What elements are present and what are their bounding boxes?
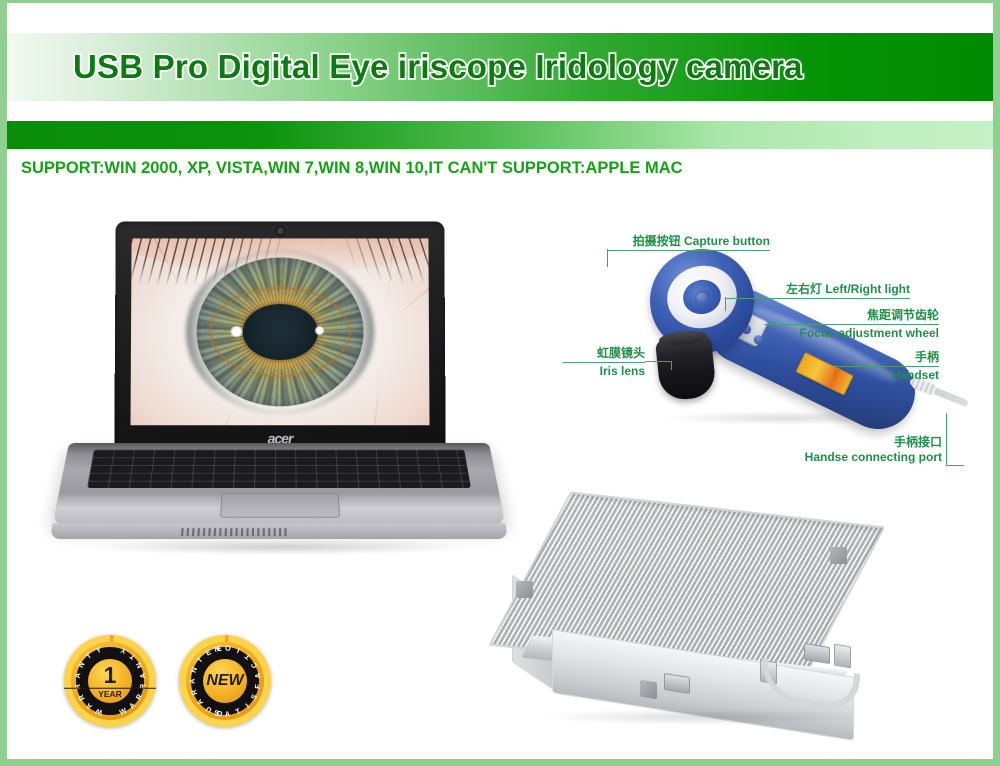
seal-center: NEW [179, 673, 271, 689]
leader-line-iris-lens-drop [671, 361, 672, 370]
product-banner: USB Pro Digital Eye iriscope Iridology c… [0, 0, 1000, 766]
callout-rule [725, 298, 910, 299]
pupil [243, 304, 318, 360]
leader-line-iris-lens [645, 361, 671, 362]
callout-connecting-port: 手柄接口 Handse connecting port [792, 435, 942, 465]
title-banner: USB Pro Digital Eye iriscope Iridology c… [7, 33, 993, 101]
seal-center-small: YEAR [64, 688, 156, 699]
aluminium-case-image [512, 503, 922, 733]
case-corner-left [516, 581, 533, 598]
leader-line-port [946, 465, 964, 466]
laptop-screen [130, 238, 429, 425]
laptop-shadow [89, 539, 469, 555]
accent-bar [7, 121, 993, 149]
callout-left-right-light: 左右灯 Left/Right light [725, 282, 910, 300]
callout-iris-lens: 虹膜镜头 Iris lens [563, 346, 645, 379]
iriscope-handset-image [622, 241, 962, 441]
callout-connecting-port-en: Handse connecting port [792, 450, 942, 465]
callout-handset-en: Handset [835, 368, 939, 383]
laptop-vent [181, 528, 290, 536]
leader-line-port-rise [946, 413, 947, 465]
seal-center-big: 1 [64, 664, 156, 687]
handset-inner-ring [679, 276, 724, 318]
callout-connecting-port-cn: 手柄接口 [792, 435, 942, 450]
capture-button [694, 289, 710, 304]
case-corner-front-left [640, 680, 657, 700]
leader-line-light [725, 297, 726, 311]
warranty-seal: WARRANTY WARRANTY 1 YEAR [64, 635, 156, 727]
guarantee-seal: GUARANTEE SATISFACTION NEW [179, 635, 271, 727]
laptop-base [52, 443, 505, 525]
leader-line-capture [607, 249, 608, 267]
callout-handset: 手柄 Handset [835, 350, 939, 383]
callout-focus-wheel-cn: 焦距调节齿轮 [764, 308, 939, 323]
callout-rule [563, 362, 645, 363]
seal-center-big: NEW [179, 673, 271, 689]
callout-iris-lens-en: Iris lens [563, 364, 645, 379]
os-support-text: SUPPORT:WIN 2000, XP, VISTA,WIN 7,WIN 8,… [21, 159, 683, 178]
laptop-image: acer [69, 221, 489, 551]
laptop-lid: acer [114, 222, 445, 452]
callout-rule [764, 324, 939, 325]
handset-shadow [662, 411, 912, 425]
case-handle-mount-right [834, 644, 851, 669]
page-title: USB Pro Digital Eye iriscope Iridology c… [73, 48, 803, 86]
callout-focus-wheel-en: Focus adjustment wheel [764, 326, 939, 341]
callout-left-right-light-text: 左右灯 Left/Right light [725, 282, 910, 297]
callout-capture-button-text: 拍摄按钮 Capture button [607, 234, 770, 249]
leader-line-handset [835, 365, 836, 379]
case-corner-right [830, 547, 847, 564]
seal-center: 1 YEAR [64, 664, 156, 699]
webcam-icon [277, 228, 284, 235]
laptop-keyboard [87, 450, 471, 488]
callout-rule [835, 366, 939, 367]
callout-rule [607, 250, 770, 251]
callout-handset-cn: 手柄 [835, 350, 939, 365]
callout-capture-button: 拍摄按钮 Capture button [607, 234, 770, 252]
iris-lens-cone [655, 334, 717, 402]
laptop-touchpad [220, 493, 340, 517]
callout-focus-wheel: 焦距调节齿轮 Focus adjustment wheel [764, 308, 939, 341]
callout-iris-lens-cn: 虹膜镜头 [563, 346, 645, 361]
case-shadow [542, 709, 862, 725]
